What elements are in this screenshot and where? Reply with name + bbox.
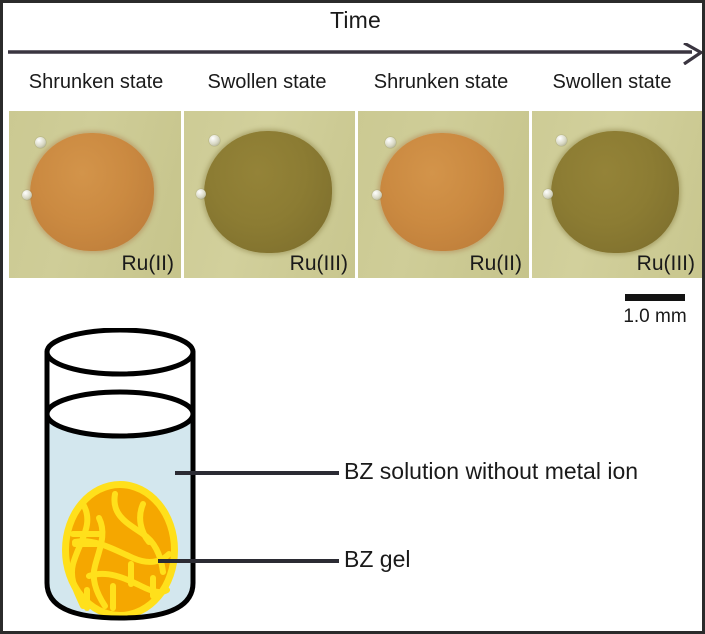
gel-bubble-2b [196, 189, 206, 199]
state-label-3: Shrunken state [351, 71, 531, 93]
vessel-rim-ellipse [47, 330, 193, 374]
scale-bar-label: 1.0 mm [603, 306, 705, 328]
gel-bubble-1a [35, 137, 46, 148]
oxidation-label-1: Ru(II) [122, 251, 175, 276]
gel-photo-strip: Ru(II) Ru(III) Ru(II) Ru(III) [9, 111, 702, 278]
gel-specimen-1 [30, 133, 154, 251]
scale-bar [625, 294, 685, 301]
label-bz-solution: BZ solution without metal ion [344, 458, 638, 484]
gel-bubble-4b [543, 189, 553, 199]
photo-panel-4: Ru(III) [531, 111, 702, 278]
oxidation-label-3: Ru(II) [470, 251, 523, 276]
photo-panel-3: Ru(II) [357, 111, 529, 278]
time-arrow-icon [8, 43, 702, 65]
state-label-1: Shrunken state [6, 71, 186, 93]
gel-specimen-3 [380, 133, 504, 251]
panel-divider-1 [181, 111, 184, 278]
oxidation-label-4: Ru(III) [637, 251, 695, 276]
gel-bubble-1b [22, 190, 32, 200]
photo-panel-2: Ru(III) [183, 111, 355, 278]
figure-panel: Time Shrunken state Swollen state Shrunk… [0, 0, 705, 634]
panel-divider-3 [529, 111, 532, 278]
gel-bubble-3a [385, 137, 396, 148]
gel-specimen-4 [551, 131, 679, 253]
time-axis-title: Time [3, 9, 705, 32]
gel-bubble-3b [372, 190, 382, 200]
photo-panel-1: Ru(II) [9, 111, 181, 278]
gel-specimen-2 [204, 131, 332, 253]
label-bz-gel: BZ gel [344, 546, 410, 572]
oxidation-label-2: Ru(III) [290, 251, 348, 276]
gel-bubble-2a [209, 135, 220, 146]
panel-divider-2 [355, 111, 358, 278]
gel-bubble-4a [556, 135, 567, 146]
state-label-4: Swollen state [524, 71, 700, 93]
state-label-2: Swollen state [179, 71, 355, 93]
